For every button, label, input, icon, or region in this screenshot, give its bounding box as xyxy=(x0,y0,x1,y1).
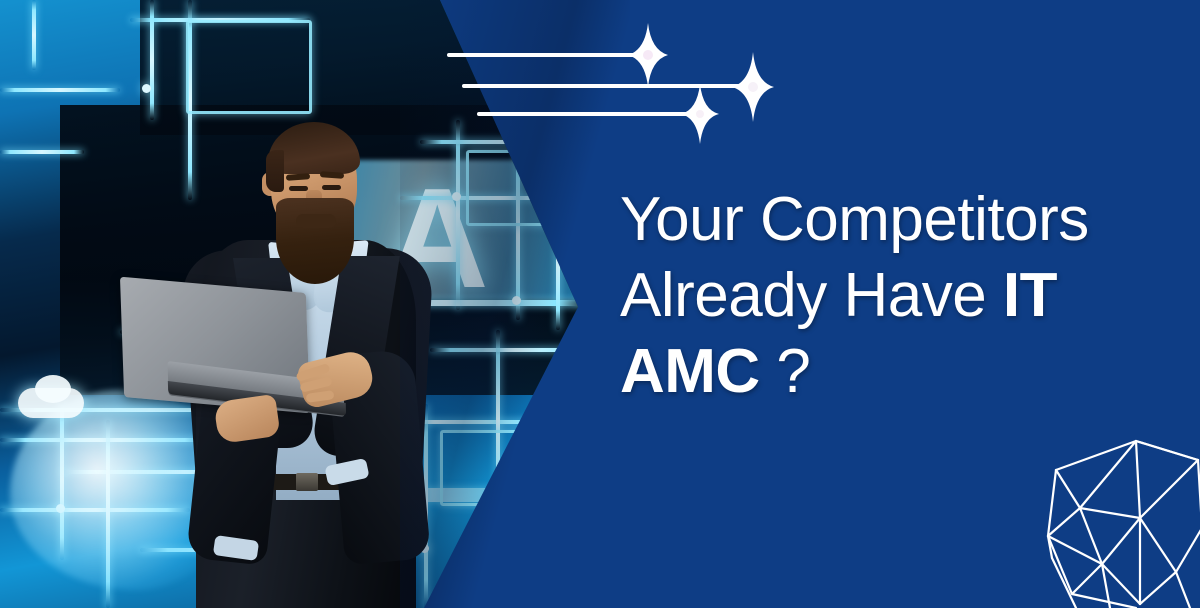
belt-buckle xyxy=(296,473,318,491)
headline-line-3: AMC ? xyxy=(620,334,1180,410)
page-title: Your Competitors Already Have IT AMC ? xyxy=(620,182,1180,410)
eye-right xyxy=(322,185,341,190)
person-figure xyxy=(0,0,600,608)
headline-question-mark: ? xyxy=(760,337,811,406)
headline-line-2: Already Have IT xyxy=(620,258,1180,334)
promotional-banner: A xyxy=(0,0,1200,608)
headline-line-2-prefix: Already Have xyxy=(620,261,1003,330)
hair-sideburn xyxy=(266,150,284,192)
headline-line-1: Your Competitors xyxy=(620,182,1180,258)
headline-emphasis-it: IT xyxy=(1003,261,1057,330)
eye-left xyxy=(289,186,308,191)
sparkle-star-3 xyxy=(662,76,738,152)
headline-emphasis-amc: AMC xyxy=(620,337,760,406)
mustache xyxy=(296,214,336,228)
wireframe-polygon-sphere xyxy=(940,408,1200,608)
hero-photo: A xyxy=(0,0,600,608)
